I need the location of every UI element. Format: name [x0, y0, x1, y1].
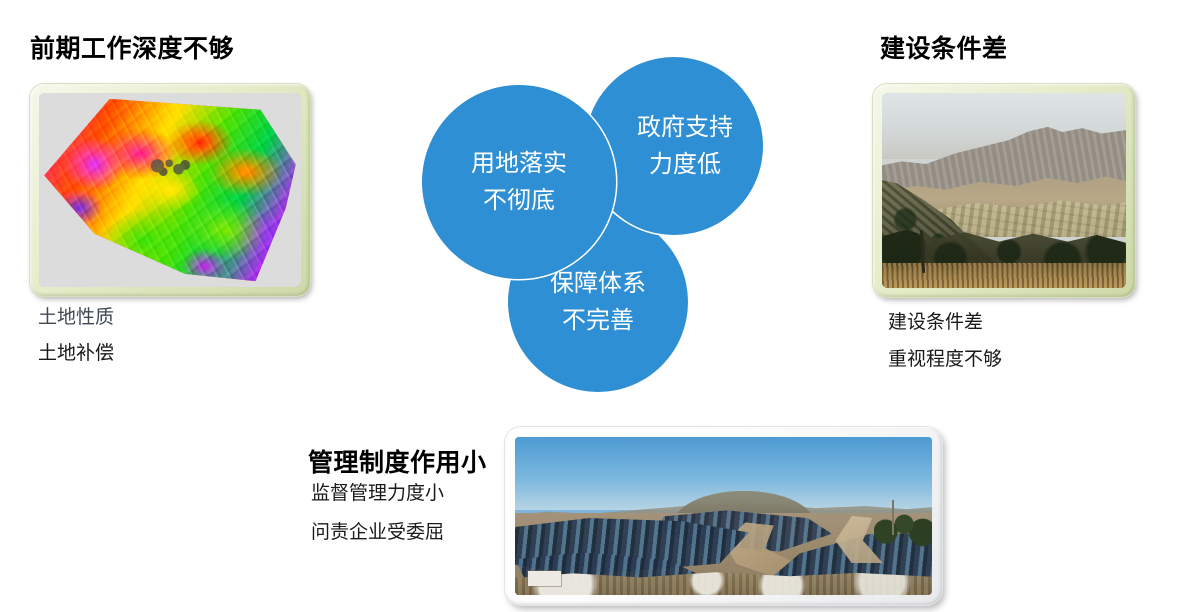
valley-artwork [882, 93, 1126, 288]
bottom-caption-list: 监督管理力度小 问责企业受委屈 [311, 484, 444, 542]
mountain-valley-photo-frame [873, 84, 1135, 297]
venn-circle-guarantee-system-line-1: 保障体系 [550, 265, 646, 302]
right-trees [874, 507, 932, 548]
right-caption-line-1: 建设条件差 [888, 313, 1002, 332]
right-heading: 建设条件差 [880, 35, 1008, 63]
bottom-caption-line-1: 监督管理力度小 [311, 484, 444, 503]
solar-farm-artwork [515, 437, 932, 595]
left-caption-line-1: 土地性质 [38, 308, 114, 327]
venn-circle-land-implementation[interactable]: 用地落实 不彻底 [422, 85, 616, 279]
bottom-heading: 管理制度作用小 [308, 449, 487, 477]
mountain-valley-photo [882, 93, 1126, 288]
terrain-colour-patches [44, 99, 296, 281]
terrain-slope-analysis-map-frame [30, 84, 310, 296]
solar-pv-farm-photo-frame [505, 427, 942, 605]
solar-pv-farm-photo [515, 437, 932, 595]
venn-circle-guarantee-system-line-2: 不完善 [562, 302, 634, 339]
venn-circle-government-support-line-2: 力度低 [649, 146, 721, 183]
right-caption-list: 建设条件差 重视程度不够 [888, 313, 1002, 369]
venn-diagram: 保障体系 不完善 政府支持 力度低 用地落实 不彻底 [418, 52, 768, 397]
venn-circle-land-implementation-line-2: 不彻底 [483, 182, 555, 219]
left-caption-list: 土地性质 土地补偿 [38, 308, 114, 363]
white-equipment-box [528, 571, 561, 585]
left-caption-line-2: 土地补偿 [38, 344, 114, 363]
right-caption-line-2: 重视程度不够 [888, 350, 1002, 369]
terrain-slope-analysis-map [39, 93, 301, 287]
bottom-caption-line-2: 问责企业受委屈 [311, 523, 444, 542]
utility-pole [892, 500, 894, 535]
terrain-raster-artwork [39, 93, 301, 287]
venn-circle-government-support-line-1: 政府支持 [637, 109, 733, 146]
venn-circle-land-implementation-line-1: 用地落实 [471, 145, 567, 182]
dry-grass-foreground [882, 263, 1126, 288]
terrain-speckle-cluster [149, 159, 191, 176]
left-heading: 前期工作深度不够 [30, 35, 234, 63]
slide-canvas: { "slide": { "background_color": "#fffff… [0, 0, 1200, 612]
